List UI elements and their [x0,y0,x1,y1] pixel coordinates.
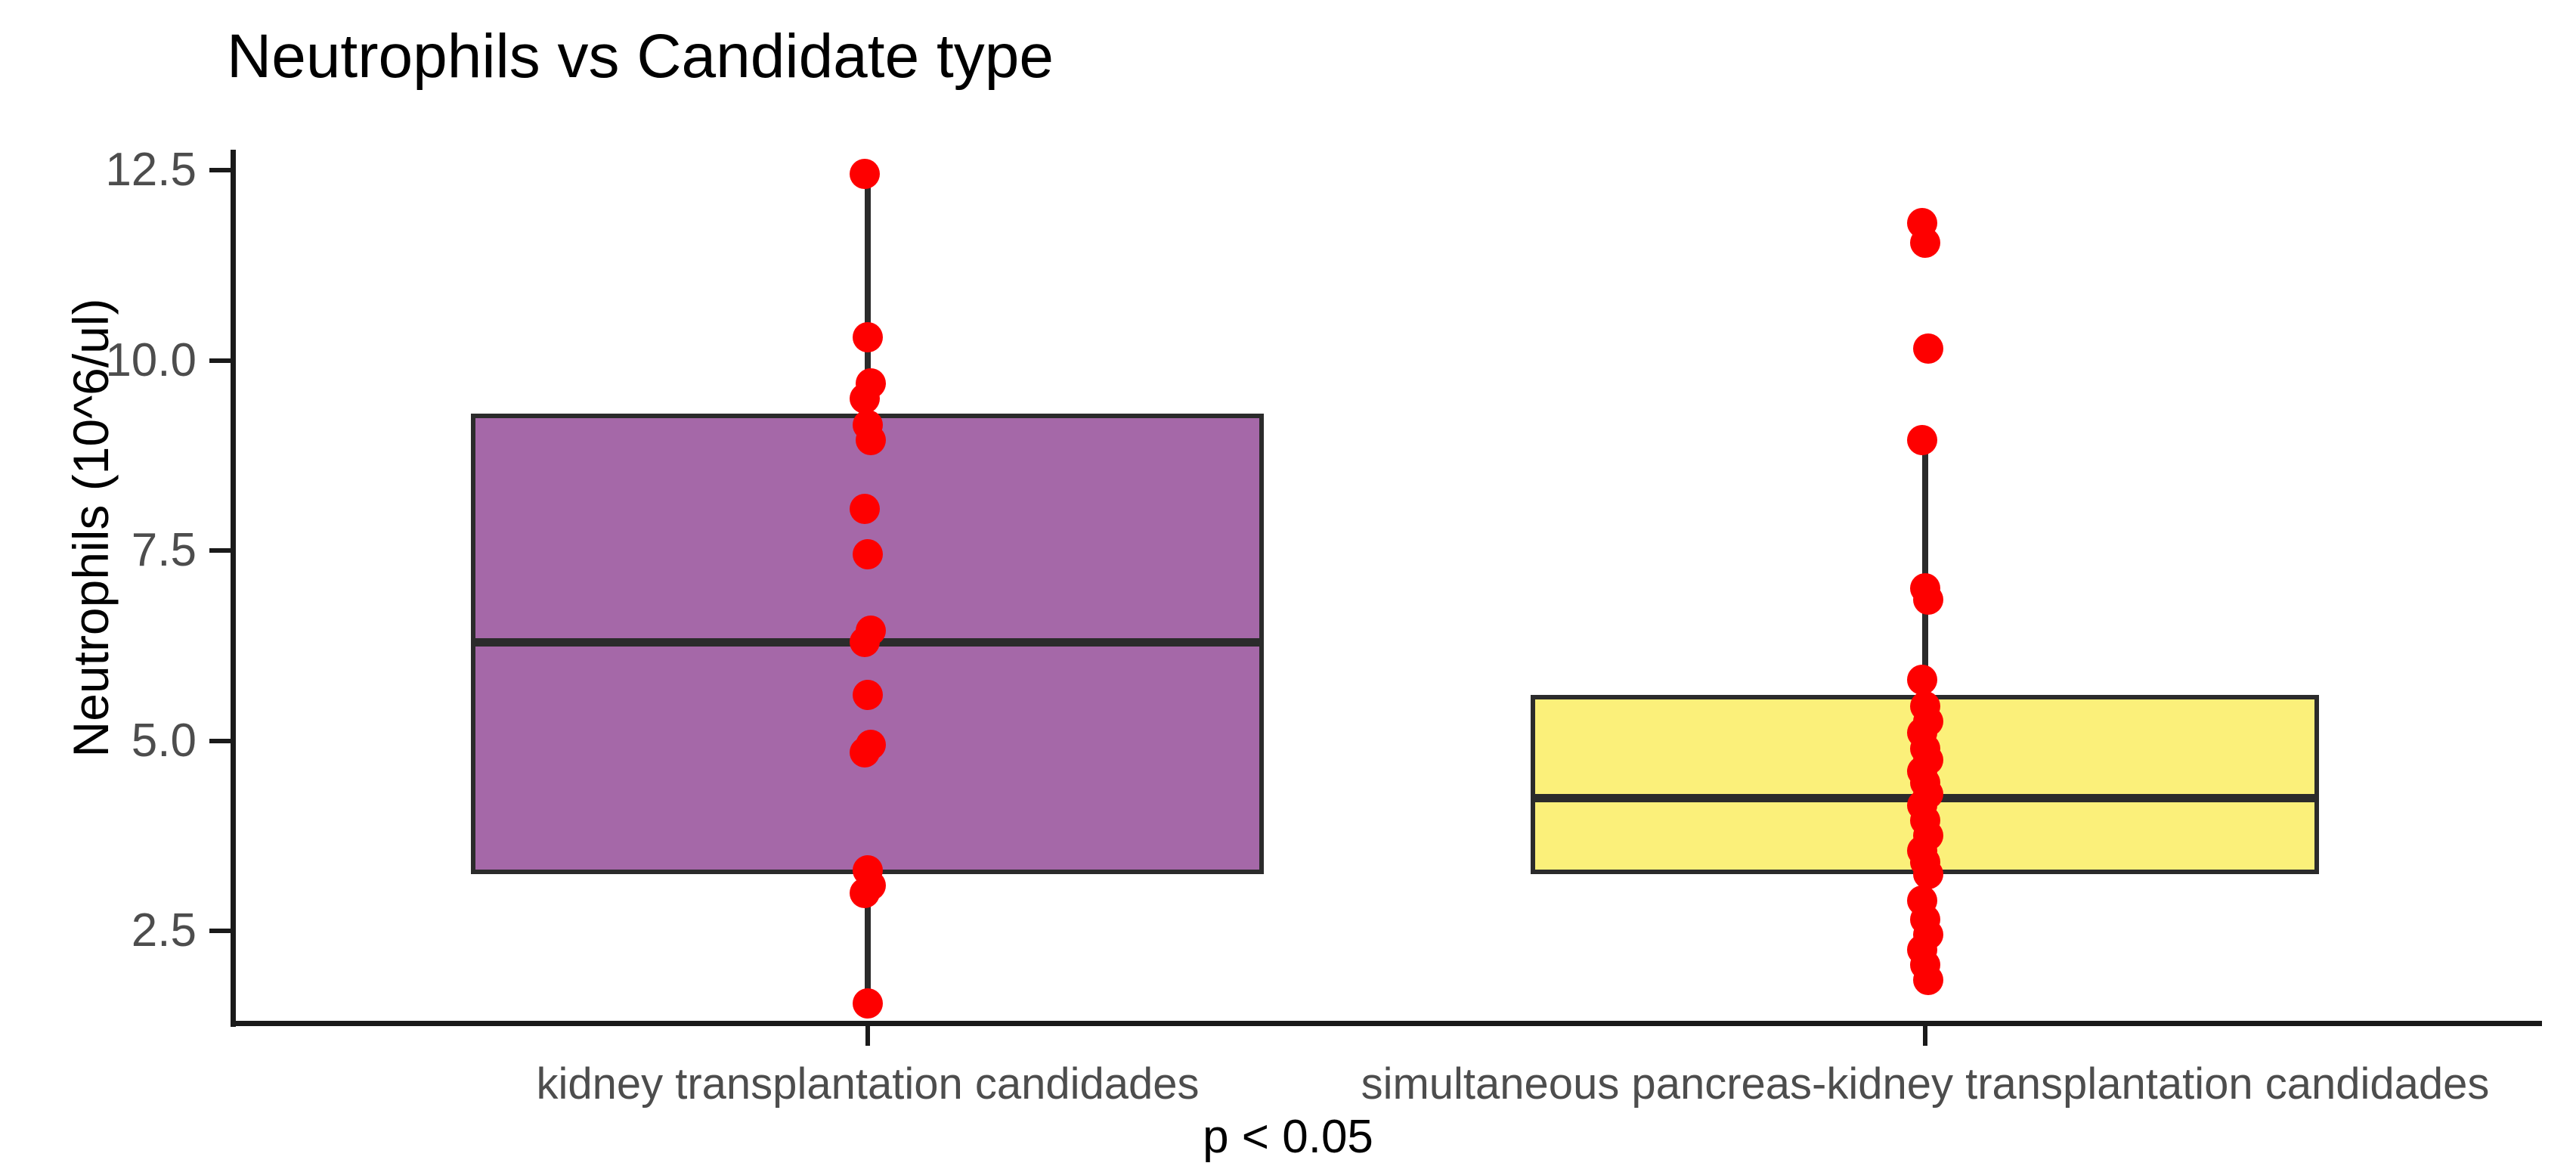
data-point [853,322,883,352]
data-point [1907,665,1937,695]
x-axis-line [231,1021,2542,1026]
whisker-upper [1922,440,1928,695]
y-tick-mark [209,358,231,363]
data-point [1913,859,1943,889]
y-axis-line [231,150,236,1027]
data-point [856,425,886,455]
y-tick-mark [209,548,231,553]
data-point [850,737,880,768]
data-point [850,159,880,189]
x-tick-label: simultaneous pancreas-kidney transplanta… [1094,1059,2576,1109]
data-point [1907,425,1937,455]
data-point [853,988,883,1019]
data-point [853,680,883,710]
data-point [850,383,880,414]
y-tick-label: 12.5 [30,143,197,197]
data-point [1910,228,1940,258]
y-tick-mark [209,739,231,743]
y-tick-label: 5.0 [30,714,197,768]
p-value-caption: p < 0.05 [0,1110,2576,1164]
y-tick-label: 2.5 [30,904,197,957]
data-point [850,494,880,524]
x-tick-mark [1923,1026,1927,1046]
chart-title: Neutrophils vs Candidate type [227,21,1054,92]
data-point [853,539,883,569]
y-tick-mark [209,929,231,933]
data-point [850,878,880,908]
y-tick-label: 7.5 [30,523,197,577]
y-tick-mark [209,168,231,172]
data-point [1913,333,1943,364]
data-point [850,627,880,657]
x-tick-mark [865,1026,870,1046]
data-point [1913,965,1943,995]
y-tick-label: 10.0 [30,333,197,387]
data-point [1913,585,1943,615]
chart-canvas: Neutrophils vs Candidate type Neutrophil… [0,0,2576,1166]
